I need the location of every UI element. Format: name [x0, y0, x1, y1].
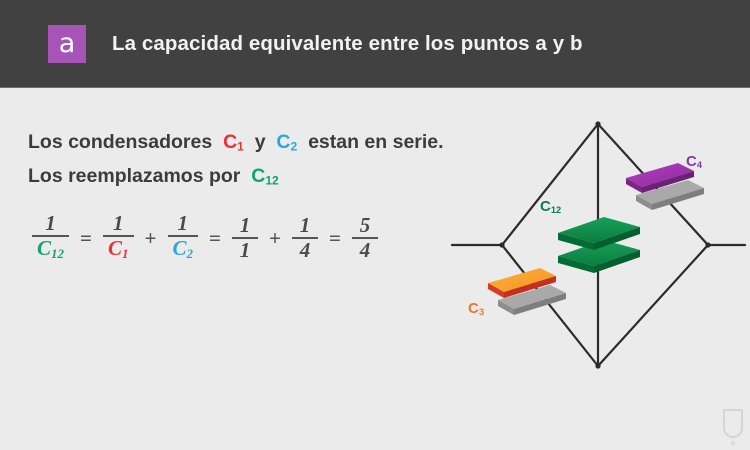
operator-plus-2: +	[269, 226, 281, 251]
numerator: 1	[295, 214, 316, 237]
vertex-left	[499, 242, 504, 247]
fraction-5-over-4: 5 4	[352, 214, 378, 262]
capacitor-label-c3: C3	[468, 300, 484, 317]
symbol-c12-subscript: 12	[265, 173, 278, 187]
circuit-svg	[440, 100, 750, 390]
statement-line-2: Los reemplazamos por C12	[28, 162, 448, 196]
denominator: 4	[355, 239, 376, 262]
symbol-c2-subscript: 2	[291, 140, 298, 154]
operator-equals-2: =	[209, 226, 221, 251]
capacitor-c12	[558, 217, 640, 273]
numerator: 1	[235, 214, 256, 237]
numerator: 1	[108, 212, 129, 235]
statement-line-1: Los condensadores C1 y C2 estan en serie…	[28, 128, 448, 162]
vertex-top	[595, 121, 600, 126]
numerator: 5	[355, 214, 376, 237]
symbol-c1: C1	[223, 131, 244, 153]
capacitor-c3	[488, 268, 566, 315]
capacitor-label-c12: C12	[540, 198, 561, 215]
statement-line1-part1: Los condensadores	[28, 131, 212, 153]
denominator: C12	[32, 237, 69, 265]
symbol-c2: C2	[276, 131, 297, 153]
question-badge-label: a	[59, 30, 76, 57]
symbol-c12: C12	[251, 165, 279, 187]
statement-line2-part1: Los reemplazamos por	[28, 165, 240, 187]
numerator: 1	[40, 212, 61, 235]
fraction-1-over-c1: 1 C1	[103, 212, 134, 265]
page-title: La capacidad equivalente entre los punto…	[112, 32, 583, 56]
operator-equals-3: =	[329, 226, 341, 251]
symbol-c1-subscript: 1	[237, 140, 244, 154]
vertex-right	[705, 242, 710, 247]
capacitor-c4	[626, 163, 704, 210]
slide-canvas: a La capacidad equivalente entre los pun…	[0, 0, 750, 450]
operator-equals-1: =	[80, 226, 92, 251]
question-badge: a	[48, 25, 86, 63]
fraction-1-over-4: 1 4	[292, 214, 318, 262]
statement-conjunction: y	[255, 131, 266, 153]
statement-block: Los condensadores C1 y C2 estan en serie…	[28, 128, 448, 195]
denominator: C1	[103, 237, 134, 265]
c12-upper-plate	[558, 217, 640, 250]
vertex-bottom	[595, 363, 600, 368]
header-bar: a La capacidad equivalente entre los pun…	[0, 0, 750, 88]
corner-watermark-icon	[720, 406, 746, 448]
circuit-diagram: C4 C12 C3	[440, 100, 750, 390]
numerator: 1	[173, 212, 194, 235]
fraction-1-over-c2: 1 C2	[168, 212, 199, 265]
statement-line1-part2: estan en serie.	[308, 131, 444, 153]
denominator: C2	[168, 237, 199, 265]
denominator: 1	[235, 239, 256, 262]
fraction-1-over-1: 1 1	[232, 214, 258, 262]
equation-row: 1 C12 = 1 C1 + 1 C2 = 1 1 + 1 4 =	[28, 212, 382, 265]
denominator: 4	[295, 239, 316, 262]
capacitor-label-c4: C4	[686, 153, 702, 170]
fraction-1-over-c12: 1 C12	[32, 212, 69, 265]
operator-plus-1: +	[145, 226, 157, 251]
